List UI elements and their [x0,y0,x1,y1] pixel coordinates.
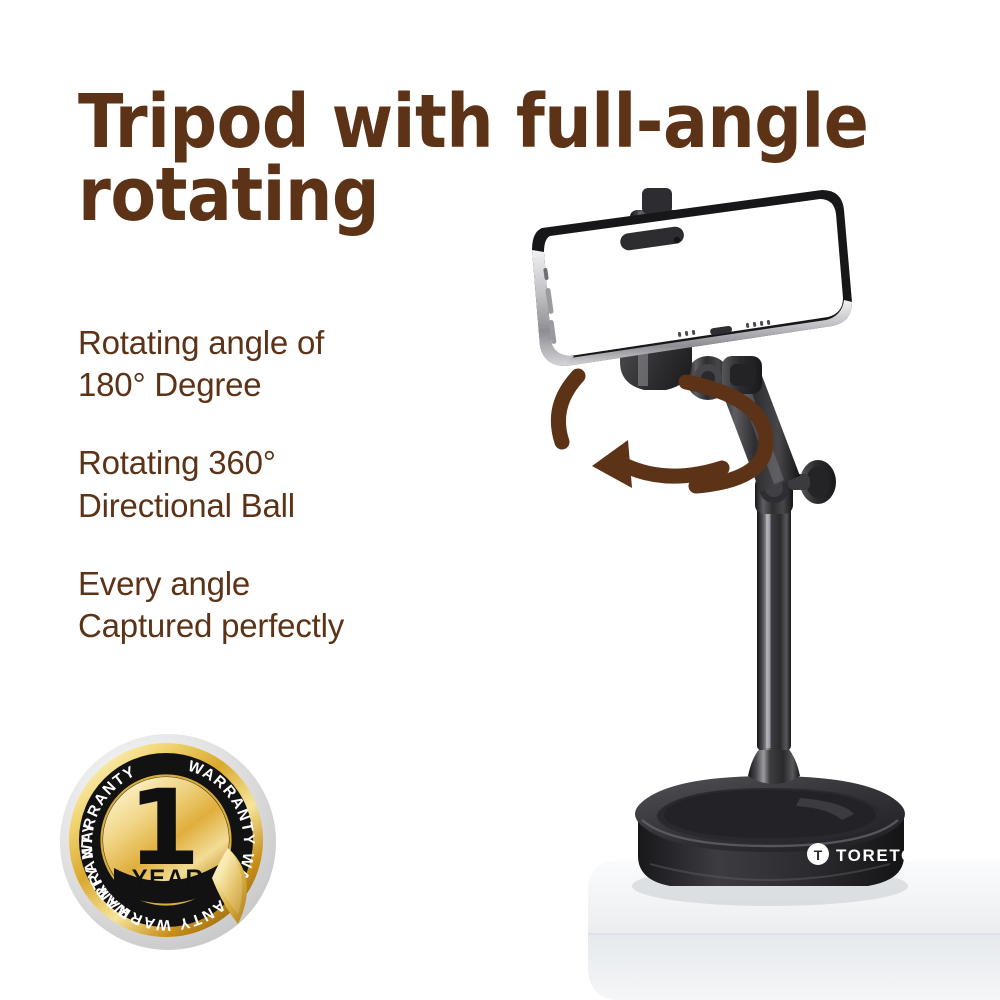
product-marketing-banner: Tripod with full-angle rotating Rotating… [0,0,1000,1000]
ball-joint-stem [642,188,672,214]
feature-every-angle: Every angle Captured perfectly [78,563,508,647]
rotation-arrowhead [592,440,632,488]
telescoping-pole [748,498,800,784]
pole-highlight [766,500,771,748]
feature-rotating-angle: Rotating angle of 180° Degree [78,322,508,406]
toreto-logo: T TORETO [807,843,916,865]
smartphone-icon [532,190,852,366]
toreto-brand-text: TORETO [836,846,916,865]
pole-shaft [757,498,791,750]
feature-every-angle-line-1: Every angle [78,563,508,605]
feature-directional-ball-line-1: Rotating 360° [78,442,508,484]
badge-period: YEAR [132,865,205,892]
pole-foot [748,746,800,784]
phone-front-camera [674,237,680,243]
feature-every-angle-line-2: Captured perfectly [78,605,508,647]
rotation-arc-left [558,376,578,442]
feature-directional-ball-line-2: Directional Ball [78,485,508,527]
feature-list: Rotating angle of 180° Degree Rotating 3… [78,322,508,647]
weighted-base: T TORETO [635,776,916,886]
rotation-arc-bottom [622,464,722,476]
product-image: T TORETO [470,180,1000,1000]
feature-rotating-angle-line-2: 180° Degree [78,364,508,406]
toreto-mark-letter: T [814,847,823,863]
headline-line-1: Tripod with full-angle [78,86,918,159]
warranty-badge: WARRANTY WARRANTY WARRANTY WARRANTY WARR… [52,728,284,960]
feature-directional-ball: Rotating 360° Directional Ball [78,442,508,526]
rotation-arrow-icon [558,376,766,486]
feature-rotating-angle-line-1: Rotating angle of [78,322,508,364]
